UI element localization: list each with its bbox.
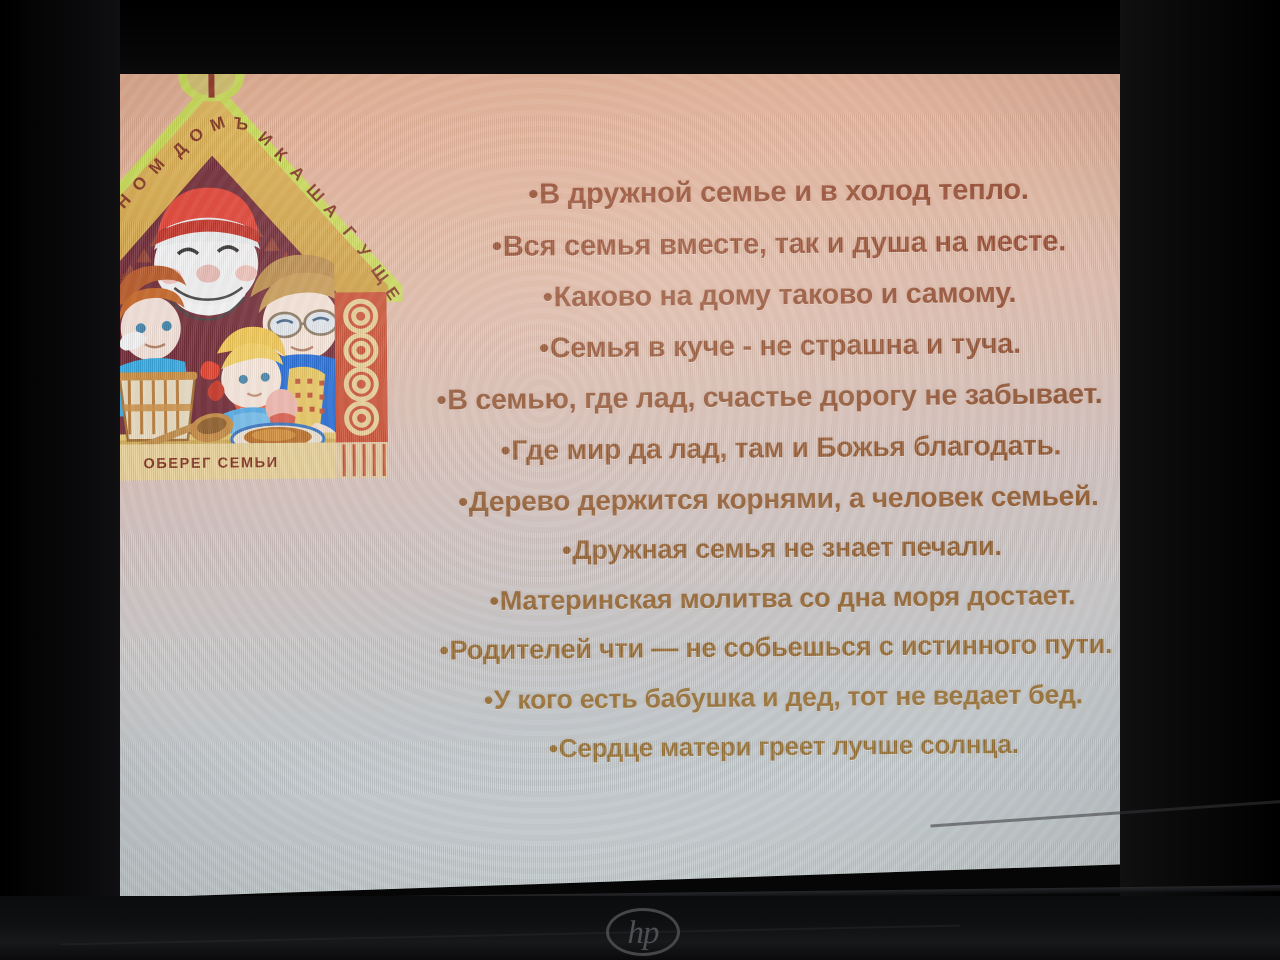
proverb-item: •Каково на дому таково и самому. (396, 277, 1162, 313)
amulet-caption: ОБЕРЕГ СЕМЬИ (143, 455, 278, 472)
proverb-item: •В семью, где лад, счастье дорогу не заб… (375, 379, 1163, 415)
slide-canvas: В Р О Д Н О М Д О М Ъ И (0, 4, 1180, 900)
proverb-item: •В дружной семье и в холод тепло. (395, 175, 1161, 211)
proverb-item: •У кого есть бабушка и дед, тот не ведае… (400, 680, 1166, 714)
proverb-item: •Сердце матери греет лучше солнца. (401, 729, 1167, 762)
monitor-photo: В Р О Д Н О М Д О М Ъ И (0, 0, 1280, 960)
proverb-item: •Вся семья вместе, так и душа на месте. (396, 226, 1162, 262)
hp-logo-text: hp (628, 917, 659, 950)
pillar-right (334, 292, 387, 442)
family-amulet-illustration: В Р О Д Н О М Д О М Ъ И (16, 34, 410, 500)
proverb-item: •Родителей чти — не собьешься с истинног… (386, 630, 1166, 664)
proverb-item: •Дружная семья не знает печали. (399, 531, 1165, 565)
proverb-item: •Дерево держится корнями, а человек семь… (392, 481, 1164, 516)
bezel-reflection-streak-2 (60, 925, 960, 946)
hp-logo: hp (606, 908, 680, 956)
proverb-item: •Материнская молитва со дна моря достает… (399, 581, 1165, 615)
svg-text:Ъ: Ъ (232, 114, 249, 135)
proverb-item: •Где мир да лад, там и Божья благодать. (398, 430, 1164, 465)
proverb-list: •В дружной семье и в холод тепло. •Вся с… (395, 175, 1167, 763)
roof-peak-ornament (178, 41, 245, 102)
pillar-left (40, 295, 93, 445)
proverb-item: •Семья в куче - не страшна и туча. (397, 328, 1163, 364)
presentation-slide: В Р О Д Н О М Д О М Ъ И (0, 0, 1180, 900)
